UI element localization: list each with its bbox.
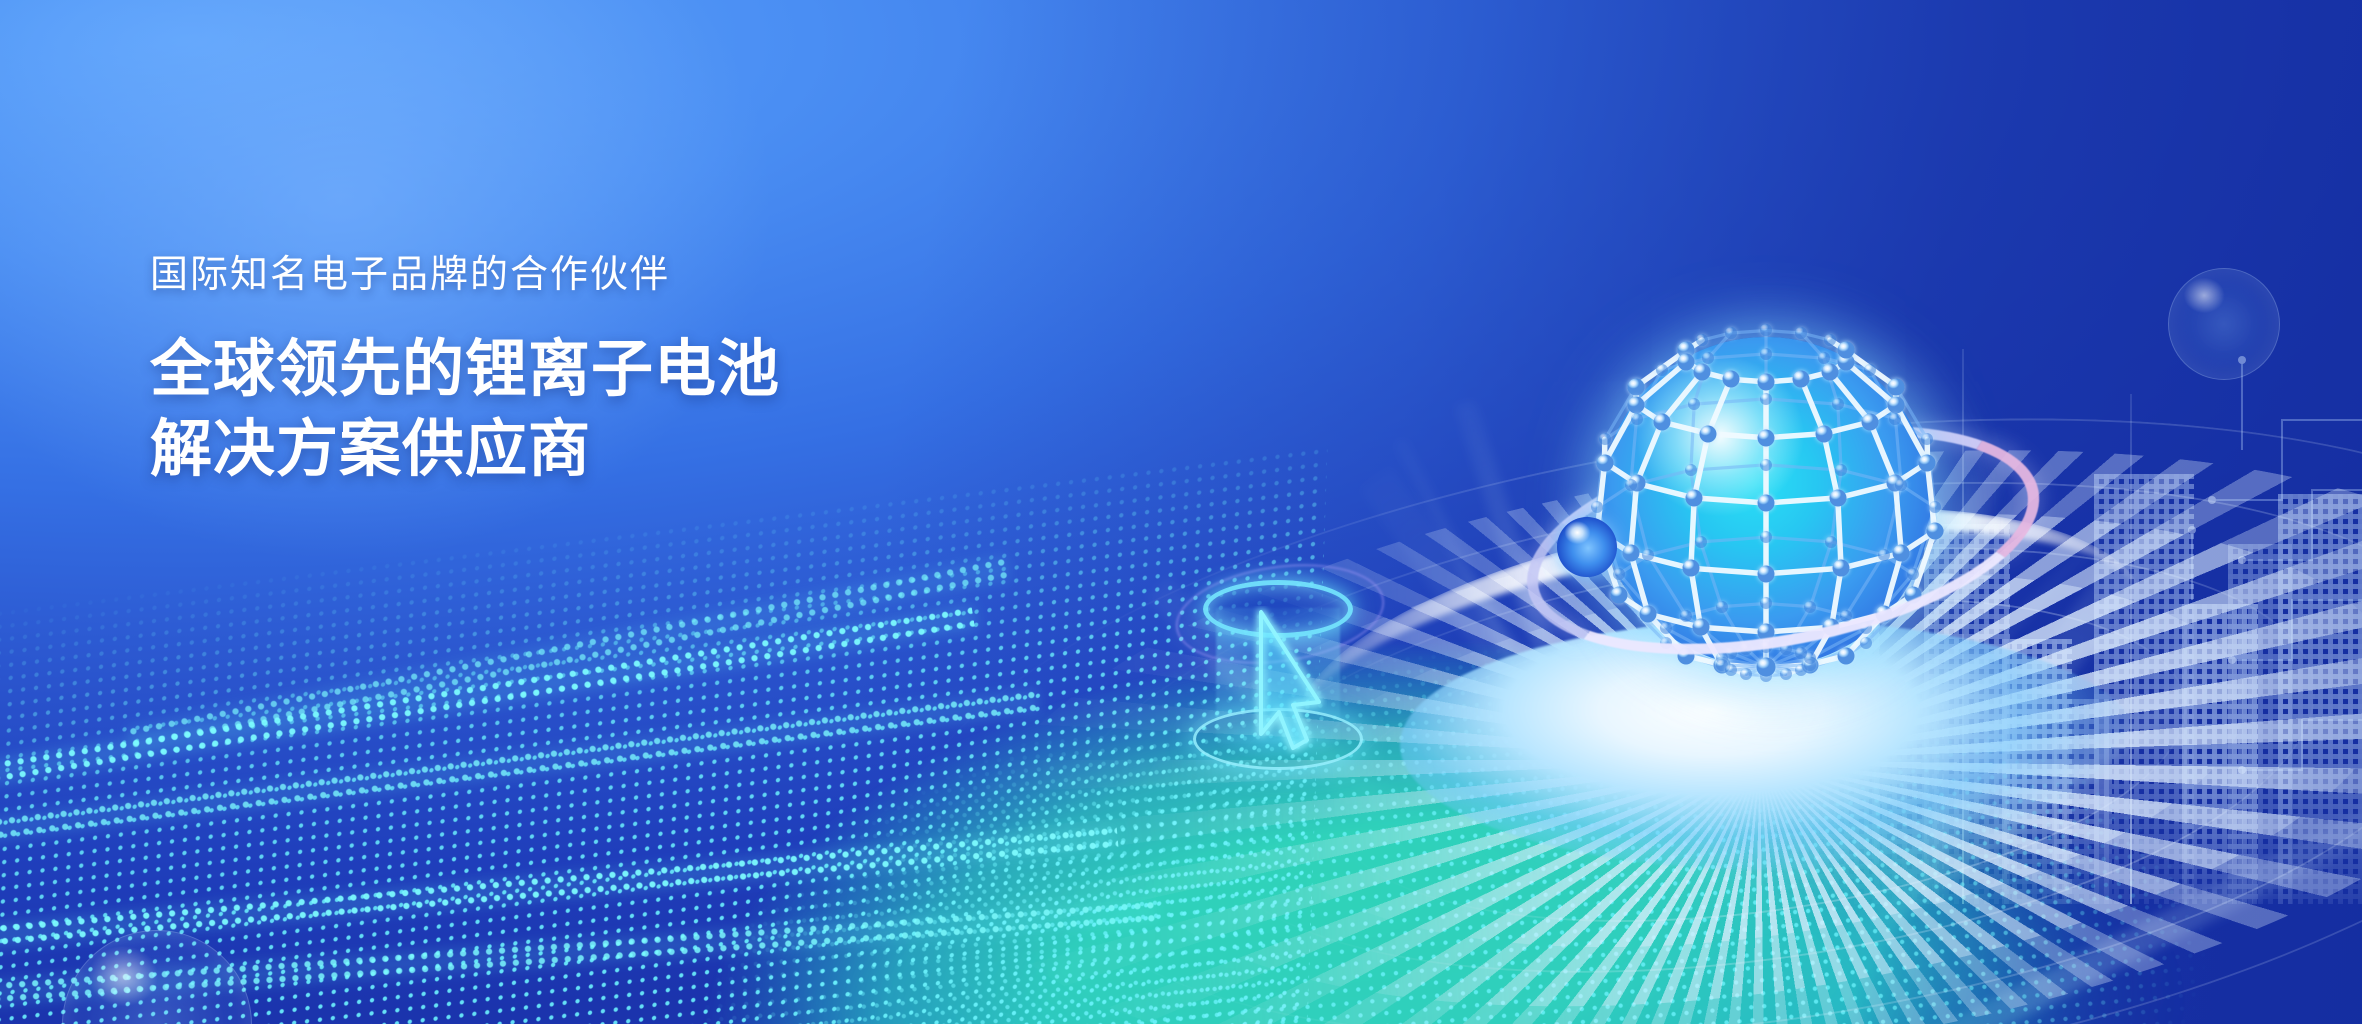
hero-banner: 国际知名电子品牌的合作伙伴 全球领先的锂离子电池 解决方案供应商 [0, 0, 2362, 1024]
mouse-cursor-icon [1231, 606, 1327, 756]
wireframe-globe-icon [1545, 285, 2005, 755]
portal-cylinder-icon [1185, 580, 1375, 780]
bubble-icon [62, 930, 252, 1024]
headline-line-1: 全球领先的锂离子电池 [150, 330, 1050, 411]
bubble-icon [2168, 268, 2280, 380]
orbit-bead-icon [1557, 517, 1617, 577]
headline-line-2: 解决方案供应商 [150, 410, 1050, 491]
banner-copy: 国际知名电子品牌的合作伙伴 全球领先的锂离子电池 解决方案供应商 [150, 252, 1050, 491]
banner-headline: 全球领先的锂离子电池 解决方案供应商 [150, 330, 1050, 491]
banner-eyebrow: 国际知名电子品牌的合作伙伴 [150, 252, 1050, 300]
